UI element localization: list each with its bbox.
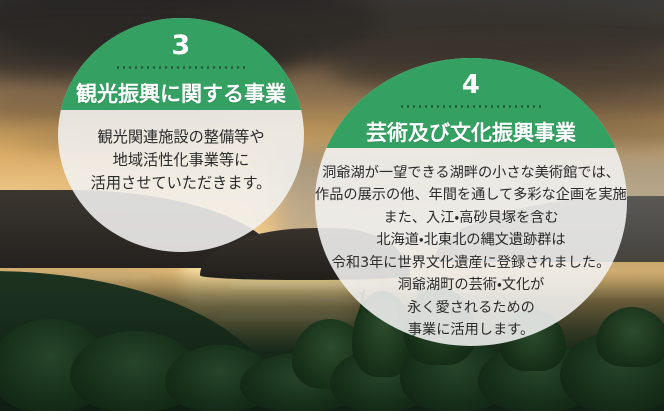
divider-dot [231,66,234,69]
divider-dot [443,105,446,108]
body-line: 作品の展示の他、年間を通して多彩な企画を実施。 [315,184,627,206]
divider-dot [129,66,132,69]
divider-dot [479,105,482,108]
body-line: 地域活性化事業等に [58,149,304,172]
circle-3-number: 3 [171,32,190,59]
divider-dot [431,105,434,108]
divider-dot [165,66,168,69]
circle-4-body: 洞爺湖が一望できる湖畔の小さな美術館では、作品の展示の他、年間を通して多彩な企画… [315,162,627,342]
divider-dot [437,105,440,108]
divider-dot [533,105,536,108]
body-line: 令和3年に世界文化遺産に登録されました。 [315,252,627,274]
divider-dot [177,66,180,69]
divider-dot [195,66,198,69]
circle-4-header: 4 芸術及び文化振興事業 [315,58,627,148]
divider-dot [153,66,156,69]
circle-4-number: 4 [462,72,481,98]
divider-dot [485,105,488,108]
divider-dot [449,105,452,108]
divider-dot [407,105,410,108]
circle-3-dotted-divider [117,66,245,69]
divider-dot [509,105,512,108]
divider-dot [117,66,120,69]
divider-dot [219,66,222,69]
divider-dot [461,105,464,108]
circle-3-body: 観光関連施設の整備等や地域活性化事業等に活用させていただきます。 [58,126,304,195]
divider-dot [207,66,210,69]
divider-dot [491,105,494,108]
divider-dot [413,105,416,108]
divider-dot [159,66,162,69]
divider-dot [171,66,174,69]
divider-dot [539,105,542,108]
divider-dot [237,66,240,69]
divider-dot [183,66,186,69]
body-line: 事業に活用します。 [315,319,627,341]
divider-dot [135,66,138,69]
divider-dot [123,66,126,69]
circle-3-title: 観光振興に関する事業 [76,78,286,108]
divider-dot [473,105,476,108]
circle-3-header: 3 観光振興に関する事業 [58,18,304,110]
body-line: 観光関連施設の整備等や [58,126,304,149]
body-line: 北海道・北東北の縄文遺跡群は [315,229,627,251]
divider-dot [515,105,518,108]
divider-dot [225,66,228,69]
info-circle-3: 3 観光振興に関する事業 観光関連施設の整備等や地域活性化事業等に活用させていた… [58,18,304,252]
divider-dot [401,105,404,108]
body-line: 洞爺湖が一望できる湖畔の小さな美術館では、 [315,162,627,184]
divider-dot [503,105,506,108]
body-line: 活用させていただきます。 [58,172,304,195]
divider-dot [147,66,150,69]
body-line: 永く愛されるための [315,297,627,319]
divider-dot [189,66,192,69]
divider-dot [201,66,204,69]
info-circle-4: 4 芸術及び文化振興事業 洞爺湖が一望できる湖畔の小さな美術館では、作品の展示の… [315,58,627,346]
divider-dot [455,105,458,108]
promo-banner: 3 観光振興に関する事業 観光関連施設の整備等や地域活性化事業等に活用させていた… [0,0,664,411]
circle-4-title: 芸術及び文化振興事業 [366,117,576,147]
body-line: また、入江・高砂貝塚を含む [315,207,627,229]
divider-dot [521,105,524,108]
divider-dot [213,66,216,69]
body-line: 洞爺湖町の芸術・文化が [315,274,627,296]
divider-dot [243,66,246,69]
divider-dot [419,105,422,108]
divider-dot [497,105,500,108]
divider-dot [467,105,470,108]
divider-dot [425,105,428,108]
circle-4-dotted-divider [401,105,541,108]
divider-dot [141,66,144,69]
divider-dot [527,105,530,108]
